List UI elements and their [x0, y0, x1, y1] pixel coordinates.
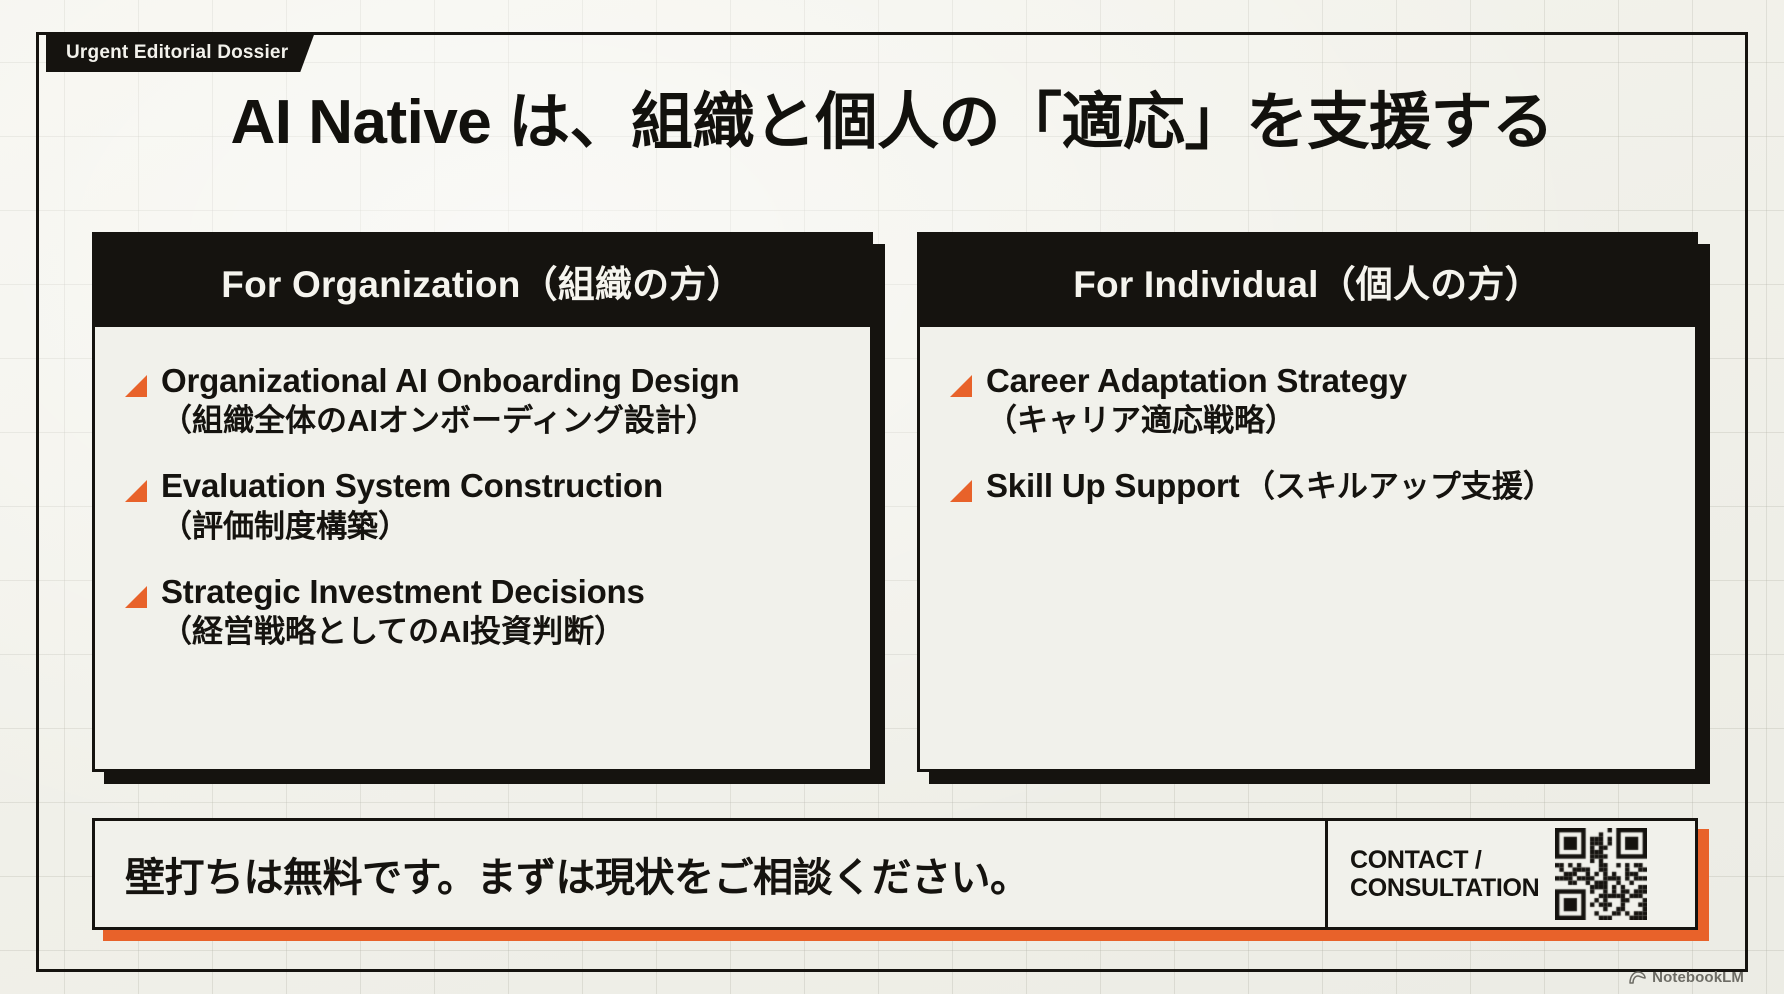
list-item-text: Skill Up Support （スキルアップ支援）	[986, 466, 1665, 506]
list-item: Evaluation System Construction （評価制度構築）	[121, 466, 840, 545]
triangle-bullet-icon	[125, 586, 147, 608]
page-title: AI Native は、組織と個人の「適応」を支援する	[0, 88, 1784, 157]
list-item-subtitle: （評価制度構築）	[161, 509, 409, 544]
cta-bar: 壁打ちは無料です。まずは現状をご相談ください。 CONTACT / CONSUL…	[92, 818, 1698, 930]
contact-block[interactable]: CONTACT / CONSULTATION	[1325, 821, 1695, 927]
notebooklm-watermark: NotebookLM	[1629, 969, 1744, 986]
list-item-subtitle: （スキルアップ支援）	[1244, 469, 1554, 504]
list-item-subtitle: （組織全体のAIオンボーディング設計）	[161, 403, 717, 438]
list-item: Organizational AI Onboarding Design （組織全…	[121, 361, 840, 440]
contact-label: CONTACT / CONSULTATION	[1350, 846, 1539, 902]
triangle-bullet-icon	[950, 375, 972, 397]
list-item-title: Evaluation System Construction	[161, 467, 663, 504]
list-item-text: Evaluation System Construction （評価制度構築）	[161, 466, 840, 545]
list-item: Career Adaptation Strategy （キャリア適応戦略）	[946, 361, 1665, 440]
card-body-individual: Career Adaptation Strategy （キャリア適応戦略） Sk…	[920, 327, 1695, 769]
list-item-text: Strategic Investment Decisions （経営戦略としての…	[161, 572, 840, 651]
list-item-subtitle: （経営戦略としてのAI投資判断）	[161, 614, 625, 649]
card-body-organization: Organizational AI Onboarding Design （組織全…	[95, 327, 870, 769]
triangle-bullet-icon	[125, 480, 147, 502]
list-item: Skill Up Support （スキルアップ支援）	[946, 466, 1665, 506]
qr-code[interactable]	[1555, 828, 1647, 920]
list-item-text: Career Adaptation Strategy （キャリア適応戦略）	[986, 361, 1665, 440]
card-columns: For Organization（組織の方） Organizational AI…	[92, 232, 1698, 772]
triangle-bullet-icon	[125, 375, 147, 397]
card-surface: For Organization（組織の方） Organizational AI…	[92, 232, 873, 772]
cta-surface: 壁打ちは無料です。まずは現状をご相談ください。 CONTACT / CONSUL…	[92, 818, 1698, 930]
list-item-subtitle: （キャリア適応戦略）	[986, 403, 1296, 438]
card-surface: For Individual（個人の方） Career Adaptation S…	[917, 232, 1698, 772]
card-organization: For Organization（組織の方） Organizational AI…	[92, 232, 873, 772]
list-item: Strategic Investment Decisions （経営戦略としての…	[121, 572, 840, 651]
notebooklm-label: NotebookLM	[1652, 969, 1744, 986]
kicker-tag: Urgent Editorial Dossier	[46, 34, 314, 72]
list-item-title: Skill Up Support	[986, 467, 1239, 504]
contact-label-line2: CONSULTATION	[1350, 874, 1539, 902]
card-individual: For Individual（個人の方） Career Adaptation S…	[917, 232, 1698, 772]
triangle-bullet-icon	[950, 480, 972, 502]
notebooklm-logo-icon	[1629, 971, 1646, 985]
card-header-organization: For Organization（組織の方）	[95, 235, 870, 327]
cta-message: 壁打ちは無料です。まずは現状をご相談ください。	[95, 821, 1325, 927]
slide-canvas: Urgent Editorial Dossier AI Native は、組織と…	[0, 0, 1784, 994]
contact-label-line1: CONTACT /	[1350, 846, 1482, 874]
card-header-individual: For Individual（個人の方）	[920, 235, 1695, 327]
list-item-title: Organizational AI Onboarding Design	[161, 362, 739, 399]
list-item-title: Strategic Investment Decisions	[161, 573, 645, 610]
list-item-text: Organizational AI Onboarding Design （組織全…	[161, 361, 840, 440]
list-item-title: Career Adaptation Strategy	[986, 362, 1407, 399]
